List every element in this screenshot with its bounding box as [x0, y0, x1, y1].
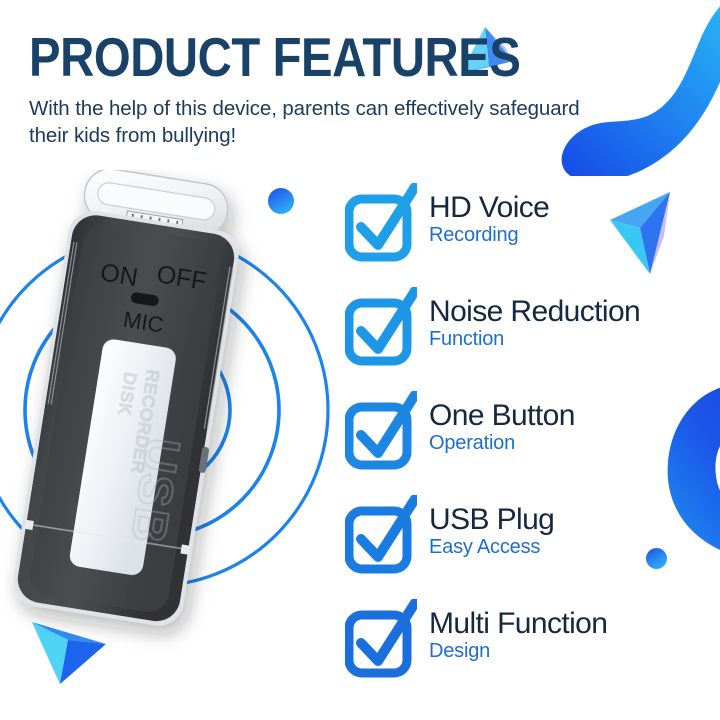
checkbox-checked-icon	[345, 287, 417, 373]
feature-list: HD Voice Recording Noise Reduction Funct…	[345, 183, 715, 703]
feature-title: USB Plug	[429, 503, 554, 536]
feature-item-one-button[interactable]: One Button Operation	[345, 391, 715, 495]
page-subtitle: With the help of this device, parents ca…	[29, 95, 589, 149]
feature-item-noise-reduction[interactable]: Noise Reduction Function	[345, 287, 715, 391]
feature-text: Noise Reduction Function	[417, 287, 640, 351]
checkbox-checked-icon	[345, 599, 417, 685]
feature-subtitle: Recording	[429, 224, 549, 247]
headline-block: PRODUCT FEATURES With the help of this d…	[29, 29, 629, 149]
feature-subtitle: Function	[429, 328, 640, 351]
feature-subtitle: Design	[429, 640, 607, 663]
usb-voice-recorder-device: ON OFF MIC DISK RECORDER USB	[0, 170, 330, 700]
feature-title: Noise Reduction	[429, 295, 640, 328]
feature-title: Multi Function	[429, 607, 607, 640]
feature-text: HD Voice Recording	[417, 183, 549, 247]
product-features-infographic: ON OFF MIC DISK RECORDER USB	[0, 0, 720, 720]
checkbox-checked-icon	[345, 391, 417, 477]
checkbox-checked-icon	[345, 495, 417, 581]
feature-item-hd-voice[interactable]: HD Voice Recording	[345, 183, 715, 287]
feature-title: One Button	[429, 399, 575, 432]
device-label-on: ON	[98, 259, 139, 293]
feature-item-usb-plug[interactable]: USB Plug Easy Access	[345, 495, 715, 599]
checkbox-checked-icon	[345, 183, 417, 269]
feature-subtitle: Operation	[429, 432, 575, 455]
feature-text: Multi Function Design	[417, 599, 607, 663]
feature-item-multi-function[interactable]: Multi Function Design	[345, 599, 715, 703]
product-image: ON OFF MIC DISK RECORDER USB	[0, 170, 330, 700]
feature-title: HD Voice	[429, 191, 549, 224]
feature-text: USB Plug Easy Access	[417, 495, 554, 559]
page-title: PRODUCT FEATURES	[29, 29, 545, 85]
feature-text: One Button Operation	[417, 391, 575, 455]
feature-subtitle: Easy Access	[429, 536, 554, 559]
